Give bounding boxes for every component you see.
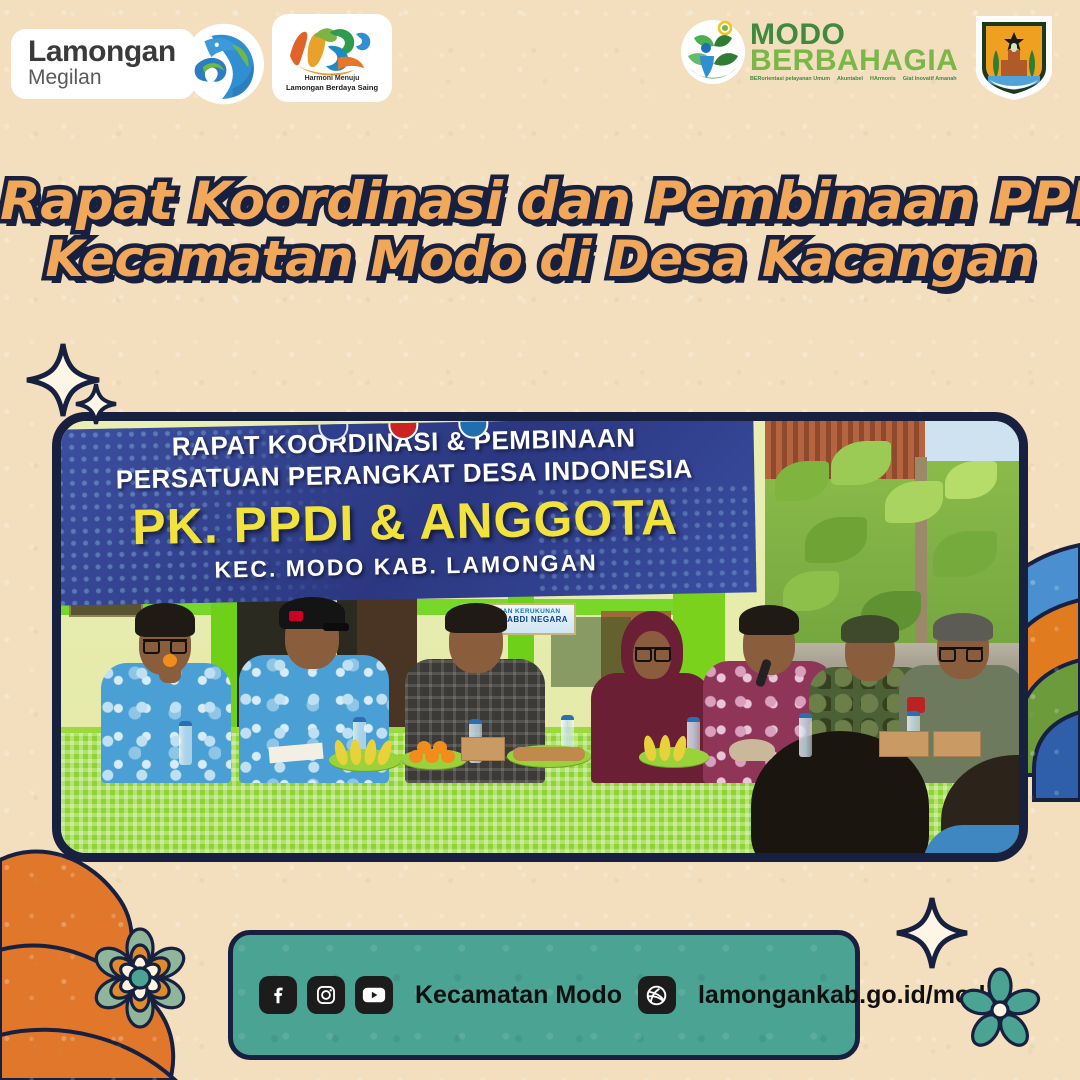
wave-decoration-left <box>0 851 175 1080</box>
modo-berbahagia-logo: MODO BERBAHAGIA BERorientasi pelayanan U… <box>680 16 958 88</box>
website-url: lamongankab.go.id/modo <box>698 981 1001 1010</box>
snack-box <box>461 737 505 761</box>
lamongan-megilan-logo: Lamongan Megilan <box>14 22 266 106</box>
anniversary-tagline-1: Harmoni Menuju <box>272 75 392 82</box>
snacks <box>513 747 585 761</box>
instagram-icon[interactable] <box>307 976 345 1014</box>
orange <box>417 741 431 754</box>
water-bottle <box>799 713 812 757</box>
attendee-1 <box>101 593 231 783</box>
water-bottle <box>179 721 192 765</box>
snack-box <box>879 731 929 757</box>
snack-box <box>933 731 981 757</box>
title-line-1: Rapat Koordinasi dan Pembinaan PPDI <box>0 172 1080 231</box>
megilan-wordmark: Megilan <box>28 67 176 88</box>
dolphin-wave-icon <box>178 22 266 106</box>
modo-tagline-part-3: HArmonis <box>870 76 896 82</box>
hat-on-table <box>729 739 775 761</box>
title-line-2: Kecamatan Modo di Desa Kacangan <box>0 231 1080 287</box>
modo-tagline: BERorientasi pelayanan Umum Akuntabel HA… <box>750 76 958 82</box>
facebook-icon[interactable] <box>259 976 297 1014</box>
berbahagia-word: BERBAHAGIA <box>750 48 958 74</box>
anniversary-logo: Harmoni Menuju Lamongan Berdaya Saing <box>272 14 392 102</box>
page-title: Rapat Koordinasi dan Pembinaan PPDI Keca… <box>0 172 1080 287</box>
modo-tagline-part-2: Akuntabel <box>837 76 863 82</box>
modo-tagline-part-4: Giat Inovatif Amanah <box>903 76 957 82</box>
event-banner: RAPAT KOORDINASI & PEMBINAAN PERSATUAN P… <box>61 421 757 606</box>
anniversary-456-icon <box>272 16 392 82</box>
footer-contact-bar: Kecamatan Modo lamongankab.go.id/modo <box>228 930 860 1060</box>
modo-tagline-part-1: BERorientasi pelayanan Umum <box>750 76 830 82</box>
globe-icon[interactable] <box>638 976 676 1014</box>
lamongan-wordmark: Lamongan <box>28 38 176 67</box>
event-photo: DESA KACANGAN CIPTAKAN KERUKUNAN ABDI NE… <box>52 412 1028 862</box>
youtube-icon[interactable] <box>355 976 393 1014</box>
social-handle: Kecamatan Modo <box>415 981 622 1010</box>
lamongan-coat-of-arms <box>968 10 1060 102</box>
anniversary-tagline-2: Lamongan Berdaya Saing <box>272 83 392 92</box>
logo-bar: Lamongan Megilan <box>0 0 1080 112</box>
orange <box>433 741 447 754</box>
people-leaf-icon <box>680 16 746 88</box>
